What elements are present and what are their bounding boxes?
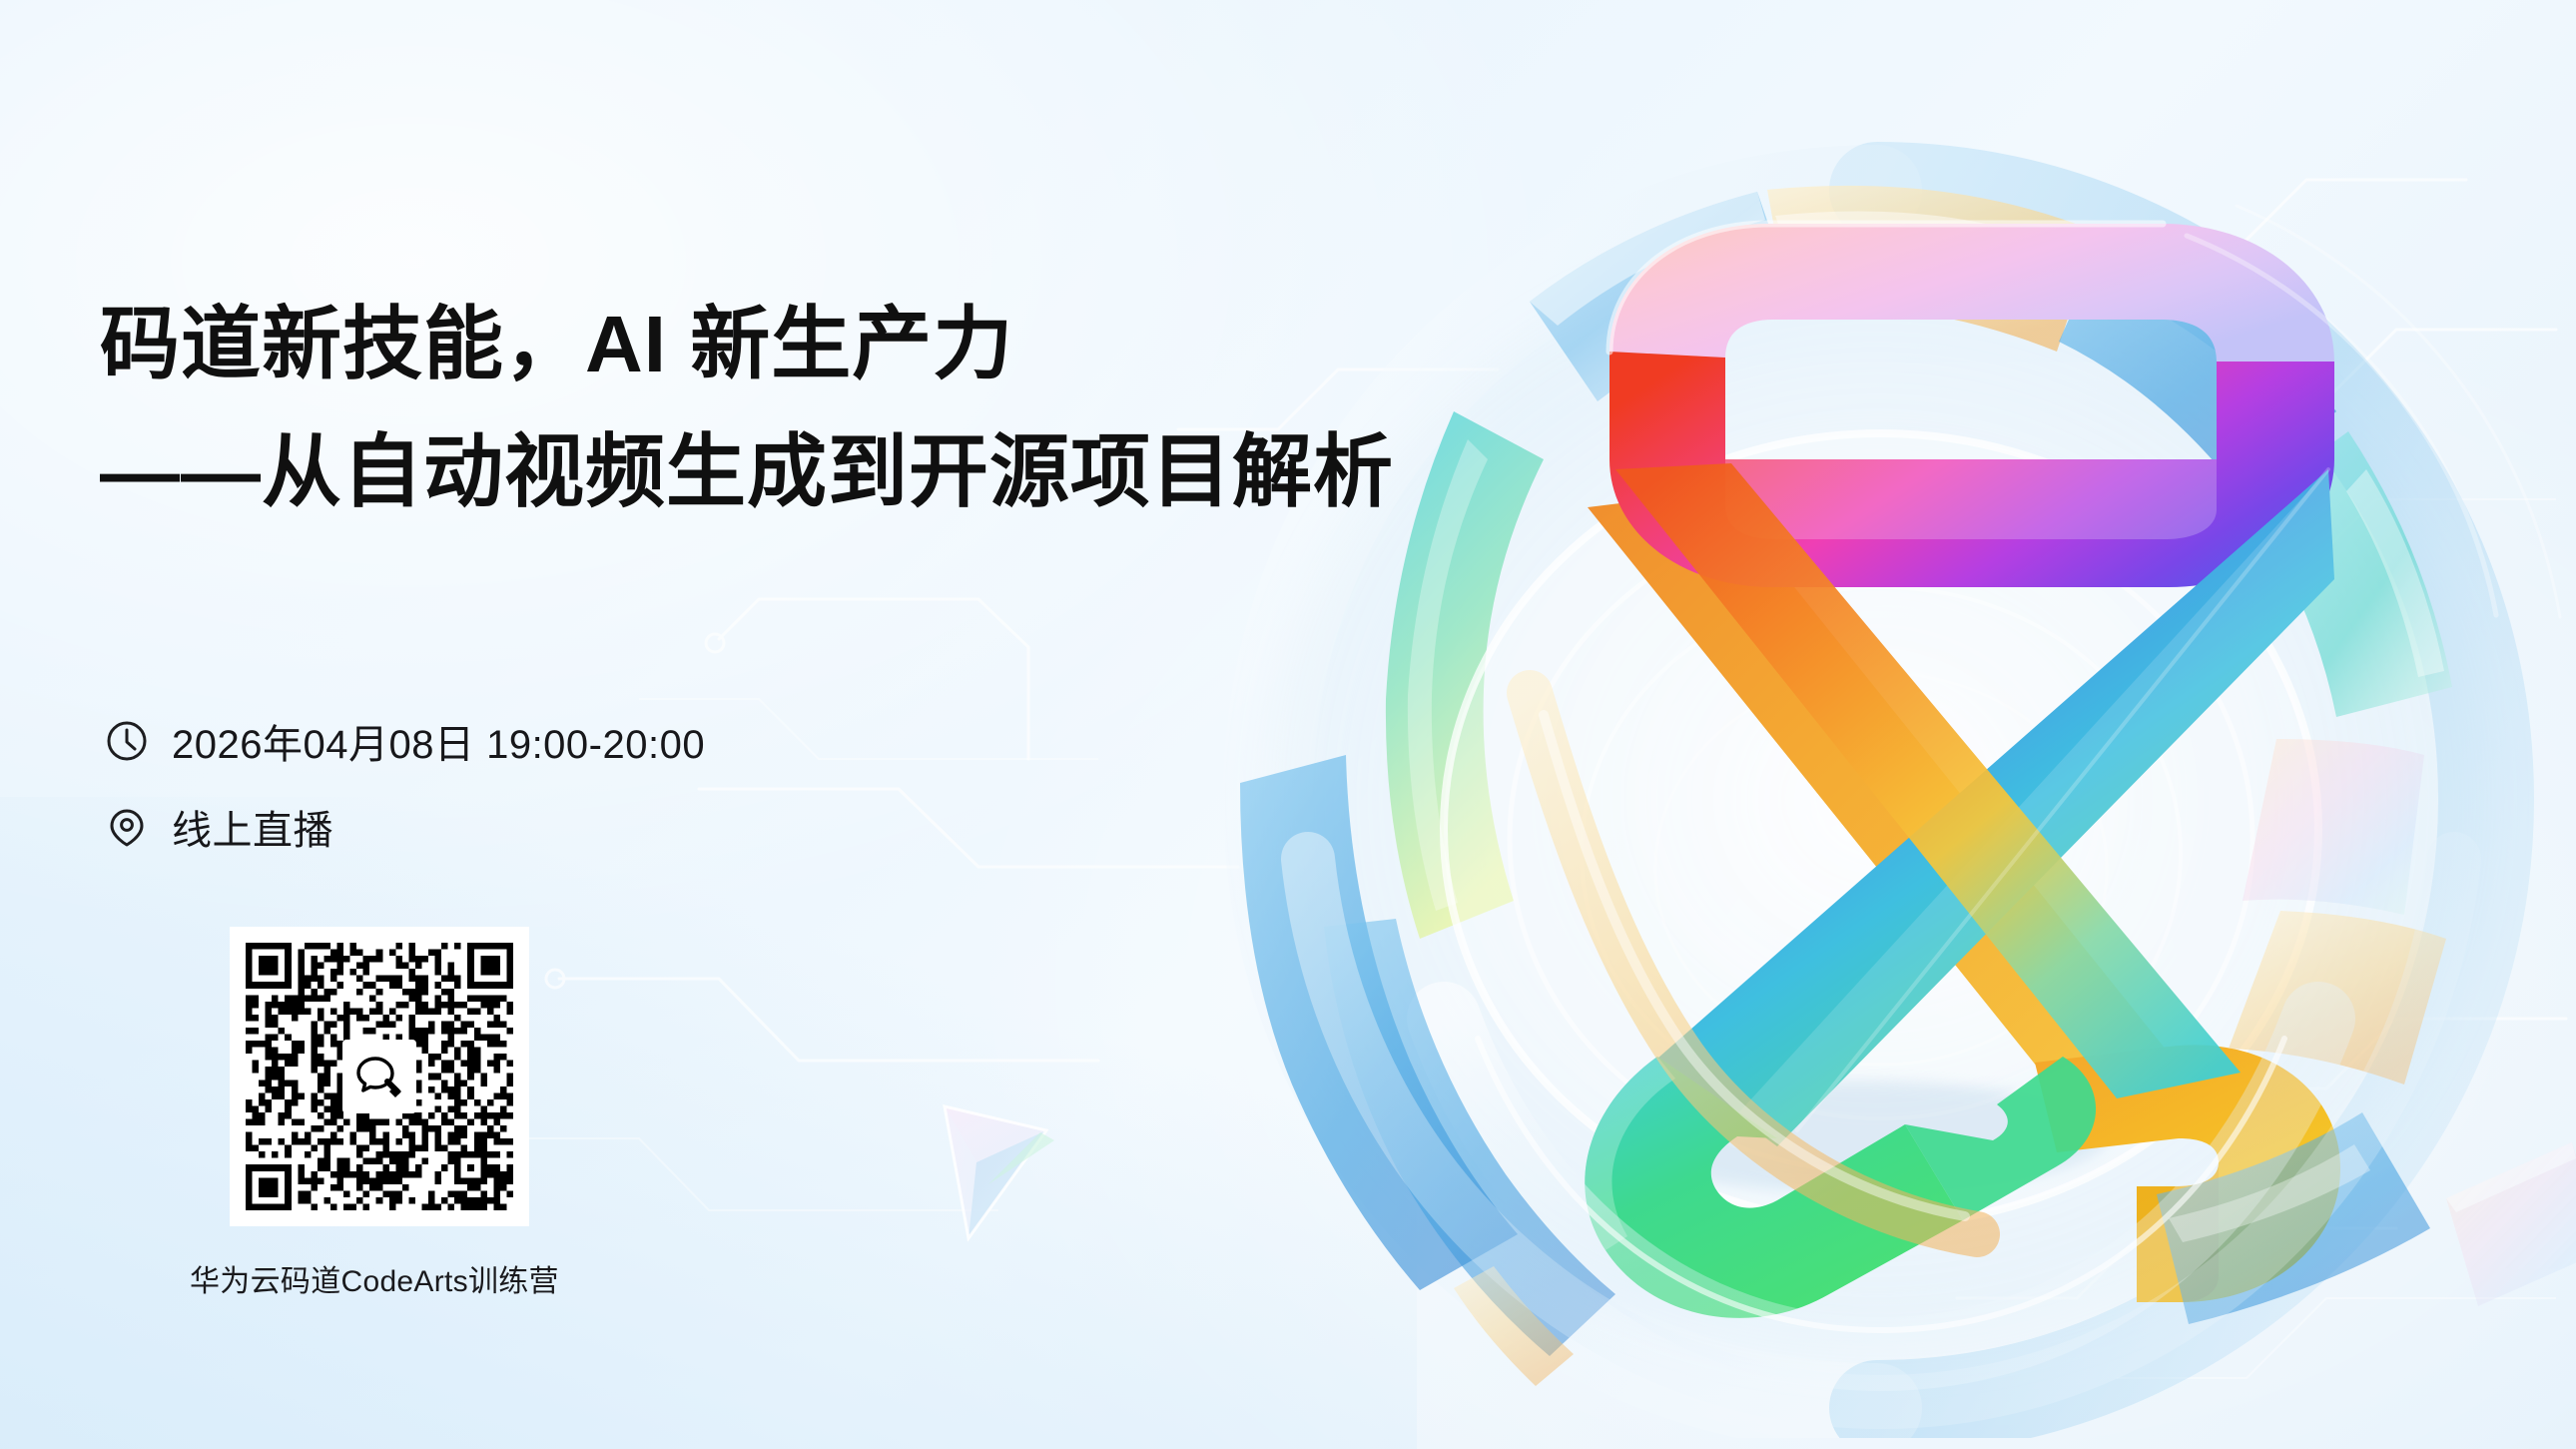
qr-block: 华为云码道CodeArts训练营 bbox=[230, 927, 529, 1300]
rainbow-ribbon bbox=[1585, 224, 2340, 1318]
ring-segments-front bbox=[1308, 693, 2454, 1402]
title-block: 码道新技能，AI 新生产力 ——从自动视频生成到开源项目解析 bbox=[100, 300, 1394, 516]
ring-echo bbox=[2187, 206, 2560, 617]
event-meta-block: 2026年04月08日 19:00-20:00 线上直播 bbox=[104, 709, 705, 881]
event-location-text: 线上直播 bbox=[172, 798, 333, 856]
event-datetime-text: 2026年04月08日 19:00-20:00 bbox=[172, 712, 705, 770]
event-datetime-row: 2026年04月08日 19:00-20:00 bbox=[104, 709, 705, 773]
event-location-row: 线上直播 bbox=[104, 795, 705, 859]
webinar-banner: 码道新技能，AI 新生产力 ——从自动视频生成到开源项目解析 2026年04月0… bbox=[0, 0, 2576, 1449]
location-pin-icon bbox=[104, 804, 150, 850]
content-column: 码道新技能，AI 新生产力 ——从自动视频生成到开源项目解析 2026年04月0… bbox=[100, 0, 1398, 1449]
inner-glass-bowl bbox=[1444, 433, 2318, 1224]
wechat-speech-bubble-icon bbox=[342, 1040, 416, 1113]
qr-caption: 华为云码道CodeArts训练营 bbox=[190, 1256, 489, 1300]
ring-segments-back bbox=[1240, 186, 2452, 1290]
page-title-line-1: 码道新技能，AI 新生产力 bbox=[100, 300, 1394, 389]
clock-icon bbox=[104, 718, 150, 764]
outer-ring-back bbox=[1268, 190, 2486, 1408]
page-title-line-2: ——从自动视频生成到开源项目解析 bbox=[100, 427, 1394, 517]
glass-shards bbox=[2446, 1142, 2576, 1306]
qr-code[interactable] bbox=[230, 927, 529, 1226]
